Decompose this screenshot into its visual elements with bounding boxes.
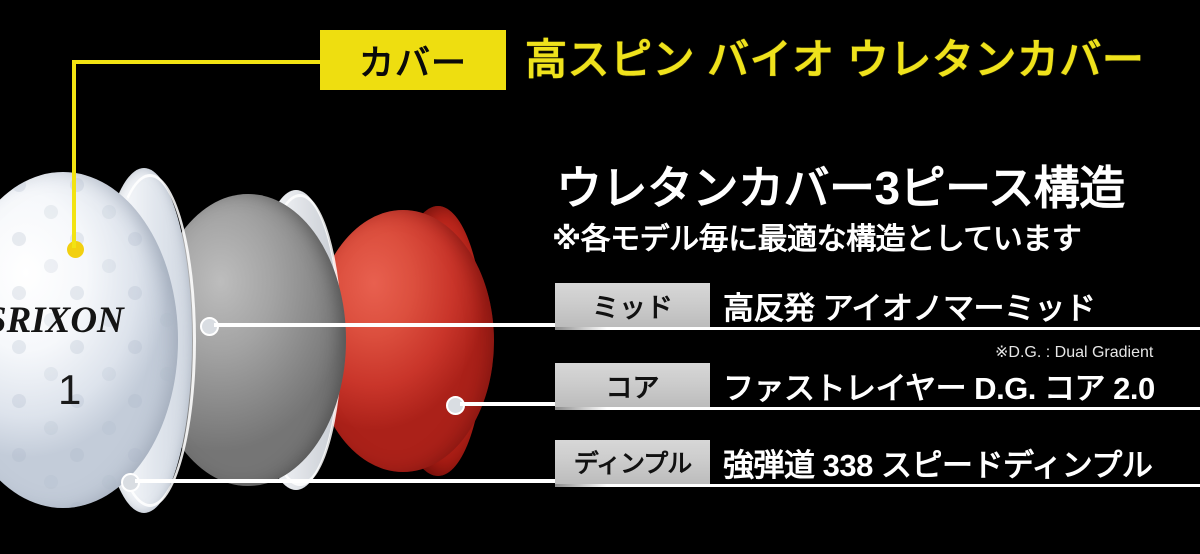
dimple-callout-line (135, 479, 560, 483)
page-subtitle: ※各モデル毎に最適な構造としています (552, 214, 1081, 258)
spec-chip-label-core: コア (606, 366, 660, 405)
page-title: ウレタンカバー3ピース構造 (556, 152, 1125, 218)
ball-brand-text: SRIXON (0, 300, 125, 341)
spec-rule-dimple (555, 484, 1200, 487)
cover-callout-line-horizontal (72, 60, 324, 64)
spec-value-dimple: 強弾道 338 スピードディンプル (723, 440, 1152, 484)
ball-number-text: 1 (58, 366, 81, 413)
ball-branding: SRIXON 1 (0, 172, 178, 508)
dg-footnote: ※D.G. : Dual Gradient (995, 342, 1153, 362)
cover-label-text: カバー (359, 35, 467, 86)
mid-callout-line (214, 323, 560, 327)
core-callout-line (460, 402, 560, 406)
spec-chip-label-mid: ミッド (592, 286, 673, 325)
spec-chip-core: コア (555, 363, 710, 407)
spec-chip-mid: ミッド (555, 283, 710, 327)
cover-callout-line-vertical (72, 60, 76, 248)
golf-ball-cutaway-diagram: SRIXON 1 (0, 168, 560, 513)
cover-label-chip: カバー (320, 30, 506, 90)
cover-layer-white: SRIXON 1 (0, 172, 178, 508)
spec-value-mid: 高反発 アイオノマーミッド (723, 283, 1096, 327)
ball-construction-infographic: SRIXON 1 カバー 高スピン バイオ ウレタンカバー ウレタンカバー3ピー… (0, 0, 1200, 554)
spec-chip-dimple: ディンプル (555, 440, 710, 484)
cover-headline-text: 高スピン バイオ ウレタンカバー (525, 26, 1144, 87)
spec-chip-label-dimple: ディンプル (574, 444, 692, 480)
spec-value-core: ファストレイヤー D.G. コア 2.0 (723, 363, 1155, 407)
spec-rule-mid (555, 327, 1200, 330)
spec-rule-core (555, 407, 1200, 410)
